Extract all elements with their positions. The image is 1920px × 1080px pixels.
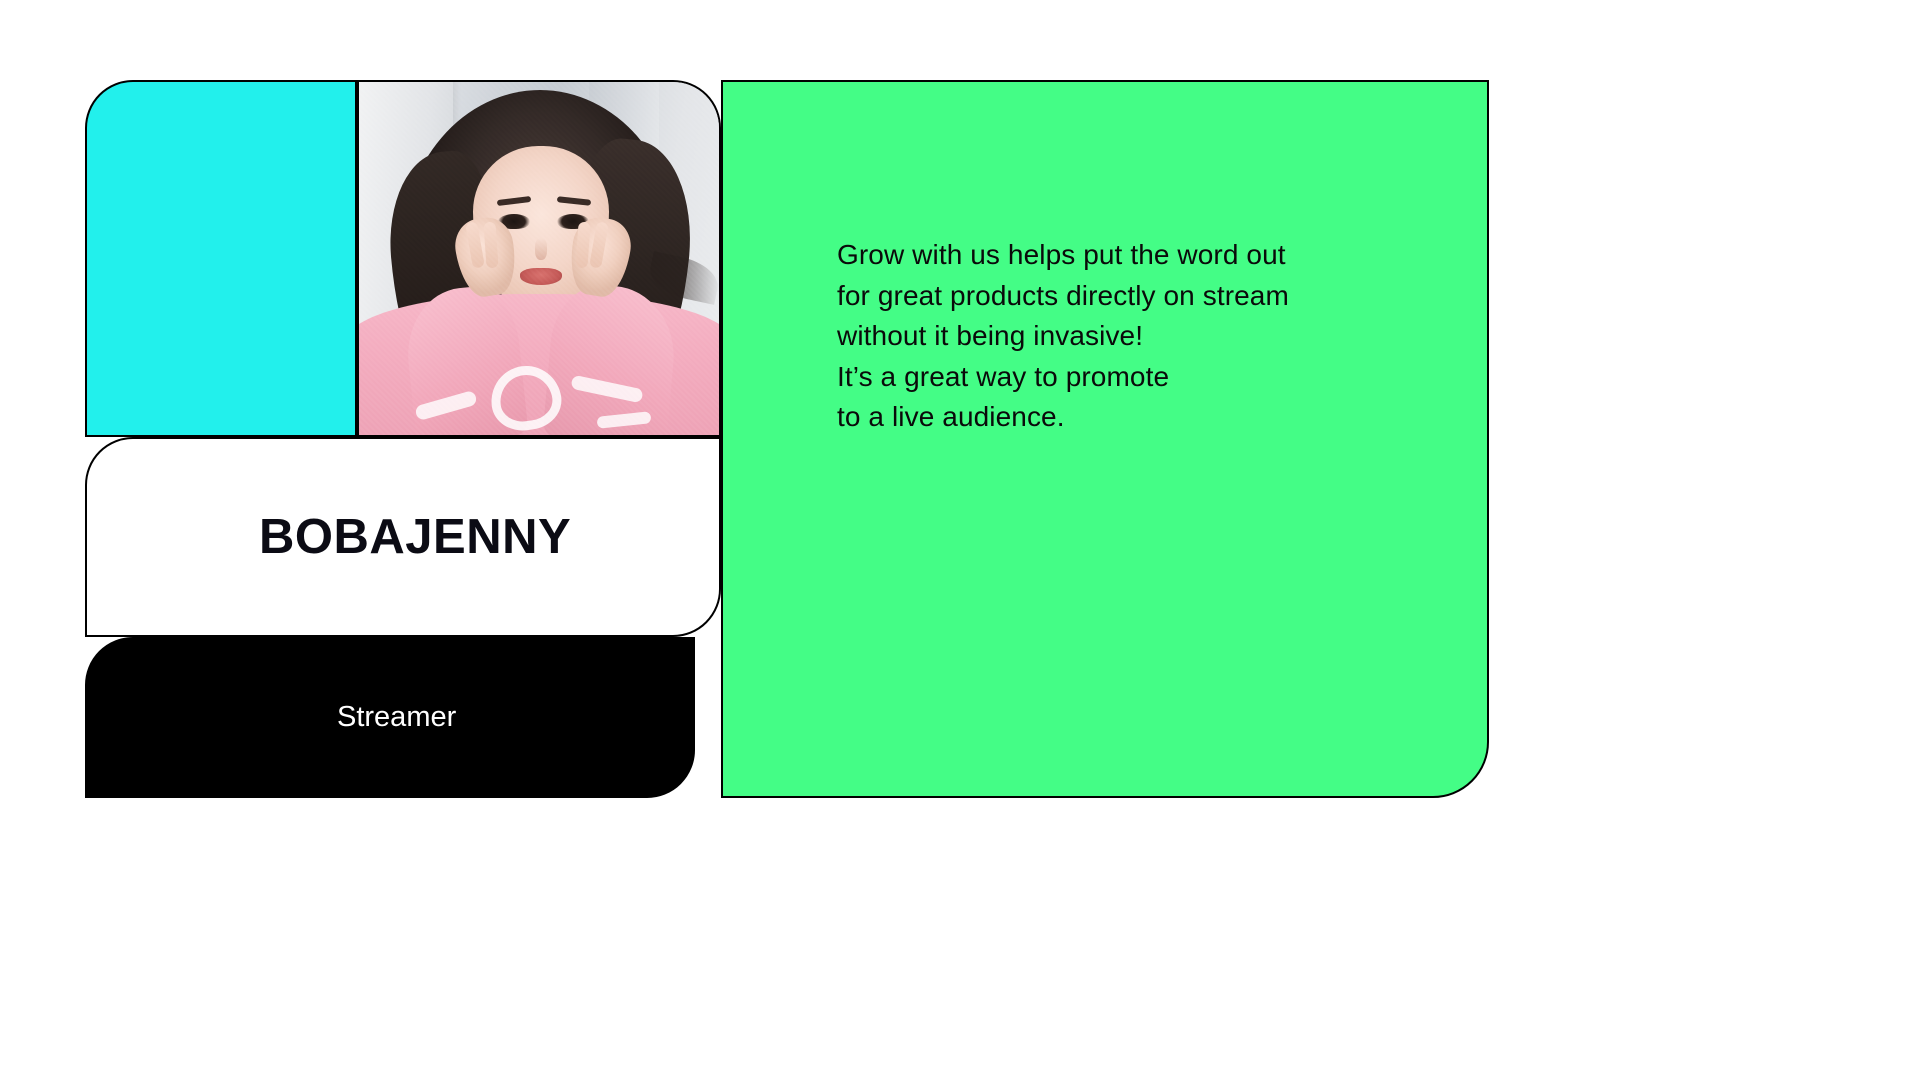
creator-role-bar: Streamer — [85, 637, 695, 798]
creator-name: BOBAJENNY — [259, 513, 571, 562]
testimonial-panel: Grow with us helps put the word out for … — [721, 80, 1489, 798]
creator-profile-card: BOBAJENNY Streamer Grow with us helps pu… — [0, 0, 1920, 1080]
testimonial-line-3: without it being invasive! — [837, 316, 1437, 357]
creator-portrait-image — [357, 80, 721, 437]
testimonial-line-4: It’s a great way to promote — [837, 357, 1437, 398]
testimonial-line-1: Grow with us helps put the word out — [837, 235, 1437, 276]
testimonial-line-2: for great products directly on stream — [837, 276, 1437, 317]
creator-name-bar: BOBAJENNY — [85, 437, 721, 637]
testimonial-line-5: to a live audience. — [837, 397, 1437, 438]
creator-photo-tile — [357, 80, 721, 437]
photo-grain-overlay — [357, 80, 721, 437]
testimonial-quote: Grow with us helps put the word out for … — [837, 235, 1437, 438]
creator-role-label: Streamer — [337, 703, 456, 732]
profile-column: BOBAJENNY Streamer — [85, 80, 721, 798]
cyan-color-swatch-tile — [85, 80, 357, 437]
